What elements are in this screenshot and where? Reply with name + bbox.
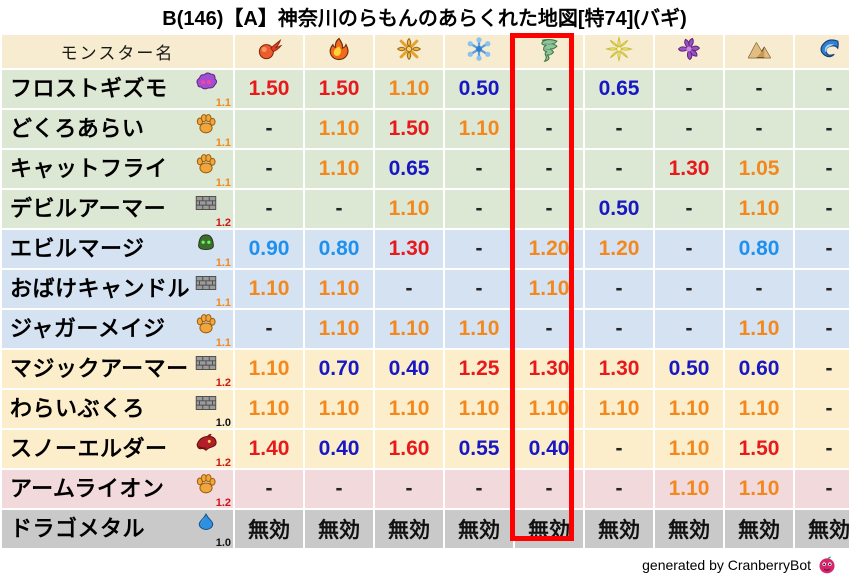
resistance-cell: - <box>795 150 849 188</box>
resistance-cell: - <box>655 270 723 308</box>
table-row: キャットフライ1.1-1.100.65---1.301.05- <box>2 150 849 188</box>
monster-name-label: わらいぶくろ <box>10 390 191 428</box>
monster-name-cell[interactable]: ドラゴメタル1.0 <box>2 510 233 548</box>
monster-badge: 1.1 <box>191 270 231 308</box>
header-wave-icon[interactable] <box>795 35 849 68</box>
resistance-cell: 1.10 <box>305 270 373 308</box>
resistance-cell: 1.10 <box>235 270 303 308</box>
resistance-cell: 1.50 <box>305 70 373 108</box>
resistance-cell: - <box>585 270 653 308</box>
monster-name-label: デビルアーマー <box>10 190 191 228</box>
resistance-cell: - <box>795 430 849 468</box>
header-mountain-icon[interactable] <box>725 35 793 68</box>
resistance-table-page: B(146)【A】神奈川のらもんのあらくれた地図[特74](バギ) モンスター名… <box>0 0 849 583</box>
purple-blob-icon <box>193 71 223 97</box>
resistance-cell: - <box>655 70 723 108</box>
page-title: B(146)【A】神奈川のらもんのあらくれた地図[特74](バギ) <box>0 2 849 31</box>
resistance-cell: 1.10 <box>375 310 443 348</box>
monster-version-label: 1.1 <box>216 138 231 149</box>
resistance-cell: 無効 <box>725 510 793 548</box>
resistance-cell: 0.80 <box>725 230 793 268</box>
resistance-cell: - <box>235 310 303 348</box>
resistance-cell: 0.50 <box>585 190 653 228</box>
resistance-cell: 1.10 <box>375 190 443 228</box>
table-row: スノーエルダー1.21.400.401.600.550.40-1.101.50- <box>2 430 849 468</box>
resistance-cell: - <box>515 70 583 108</box>
resistance-cell: 無効 <box>375 510 443 548</box>
monster-version-label: 1.0 <box>216 538 231 549</box>
resistance-cell: 0.90 <box>235 230 303 268</box>
monster-version-label: 1.2 <box>216 498 231 509</box>
resistance-cell: - <box>515 110 583 148</box>
resistance-cell: - <box>795 110 849 148</box>
monster-badge: 1.1 <box>191 110 231 148</box>
brick-icon <box>193 191 223 217</box>
resistance-cell: - <box>305 190 373 228</box>
resistance-cell: - <box>515 150 583 188</box>
monster-name-cell[interactable]: フロストギズモ1.1 <box>2 70 233 108</box>
header-monster-name: モンスター名 <box>2 35 233 68</box>
resistance-cell: 1.20 <box>515 230 583 268</box>
resistance-cell: - <box>795 310 849 348</box>
monster-version-label: 1.1 <box>216 298 231 309</box>
resistance-cell: 0.50 <box>655 350 723 388</box>
resistance-cell: 1.10 <box>235 390 303 428</box>
resistance-cell: 無効 <box>795 510 849 548</box>
monster-version-label: 1.2 <box>216 378 231 389</box>
resistance-cell: 0.40 <box>515 430 583 468</box>
table-row: アームライオン1.2------1.101.10- <box>2 470 849 508</box>
resistance-cell: - <box>515 190 583 228</box>
table-row: エビルマージ1.10.900.801.30-1.201.20-0.80- <box>2 230 849 268</box>
monster-badge: 1.2 <box>191 470 231 508</box>
resistance-cell: - <box>445 270 513 308</box>
resistance-cell: 1.30 <box>375 230 443 268</box>
resistance-cell: 0.50 <box>445 70 513 108</box>
resistance-cell: - <box>305 470 373 508</box>
table-row: どくろあらい1.1-1.101.501.10----- <box>2 110 849 148</box>
header-snowflake-icon[interactable] <box>445 35 513 68</box>
resistance-cell: - <box>725 270 793 308</box>
resistance-cell: 1.20 <box>585 230 653 268</box>
resistance-cell: 0.60 <box>725 350 793 388</box>
resistance-cell: 1.10 <box>305 150 373 188</box>
resistance-cell: 1.10 <box>655 430 723 468</box>
monster-badge: 1.1 <box>191 150 231 188</box>
header-explosion-icon[interactable] <box>375 35 443 68</box>
monster-name-label: ドラゴメタル <box>10 510 191 548</box>
resistance-cell: 1.10 <box>305 310 373 348</box>
resistance-cell: - <box>795 470 849 508</box>
monster-name-label: おばけキャンドル <box>10 270 191 308</box>
resistance-cell: 1.50 <box>375 110 443 148</box>
table-row: フロストギズモ1.11.501.501.100.50-0.65--- <box>2 70 849 108</box>
table-row: ジャガーメイジ1.1-1.101.101.10---1.10- <box>2 310 849 348</box>
header-purple-swirl-icon[interactable] <box>655 35 723 68</box>
table-row: マジックアーマー1.21.100.700.401.251.301.300.500… <box>2 350 849 388</box>
resistance-cell: - <box>585 470 653 508</box>
resistance-cell: - <box>655 190 723 228</box>
monster-version-label: 1.0 <box>216 418 231 429</box>
resistance-cell: 0.80 <box>305 230 373 268</box>
header-flame-icon[interactable] <box>305 35 373 68</box>
resistance-cell: 0.40 <box>305 430 373 468</box>
brick-icon <box>193 391 223 417</box>
resistance-cell: - <box>445 470 513 508</box>
resistance-cell: 1.10 <box>725 390 793 428</box>
footer-credit: generated by CranberryBot <box>642 555 837 575</box>
table-row: デビルアーマー1.2--1.10--0.50-1.10- <box>2 190 849 228</box>
monster-name-label: キャットフライ <box>10 150 191 188</box>
resistance-cell: - <box>655 310 723 348</box>
resistance-cell: 1.25 <box>445 350 513 388</box>
table-body: モンスター名フロストギズモ1.11.501.501.100.50-0.65---… <box>2 35 849 548</box>
monster-badge: 1.1 <box>191 70 231 108</box>
monster-name-label: スノーエルダー <box>10 430 191 468</box>
resistance-cell: - <box>795 350 849 388</box>
paw-icon <box>193 311 223 337</box>
resistance-cell: - <box>375 470 443 508</box>
resistance-cell: 1.30 <box>655 150 723 188</box>
brick-icon <box>193 351 223 377</box>
resistance-cell: - <box>585 430 653 468</box>
resistance-cell: - <box>795 230 849 268</box>
monster-name-cell[interactable]: エビルマージ1.1 <box>2 230 233 268</box>
resistance-cell: - <box>655 110 723 148</box>
table-header-row: モンスター名 <box>2 35 849 68</box>
resistance-cell: 無効 <box>515 510 583 548</box>
resistance-cell: 1.10 <box>445 390 513 428</box>
resistance-cell: 1.10 <box>305 390 373 428</box>
resistance-cell: 0.65 <box>585 70 653 108</box>
resistance-cell: 1.10 <box>585 390 653 428</box>
resistance-cell: 1.50 <box>235 70 303 108</box>
resistance-cell: 無効 <box>235 510 303 548</box>
resistance-cell: 1.60 <box>375 430 443 468</box>
resistance-cell: 0.65 <box>375 150 443 188</box>
monster-version-label: 1.2 <box>216 218 231 229</box>
resistance-cell: 無効 <box>585 510 653 548</box>
resistance-cell: - <box>655 230 723 268</box>
resistance-cell: 0.40 <box>375 350 443 388</box>
monster-name-label: ジャガーメイジ <box>10 310 191 348</box>
monster-badge: 1.1 <box>191 310 231 348</box>
resistance-cell: - <box>795 270 849 308</box>
resistance-cell: - <box>795 70 849 108</box>
resistance-cell: - <box>445 230 513 268</box>
monster-badge: 1.1 <box>191 230 231 268</box>
resistance-cell: 無効 <box>655 510 723 548</box>
monster-version-label: 1.1 <box>216 338 231 349</box>
header-tornado-icon[interactable] <box>515 35 583 68</box>
resistance-cell: - <box>445 190 513 228</box>
resistance-cell: - <box>445 150 513 188</box>
monster-version-label: 1.1 <box>216 98 231 109</box>
resistance-cell: 無効 <box>305 510 373 548</box>
monster-name-cell[interactable]: アームライオン1.2 <box>2 470 233 508</box>
monster-version-label: 1.1 <box>216 178 231 189</box>
resistance-cell: 1.10 <box>725 190 793 228</box>
monster-name-cell[interactable]: スノーエルダー1.2 <box>2 430 233 468</box>
resistance-cell: 1.10 <box>235 350 303 388</box>
resistance-cell: 1.10 <box>445 310 513 348</box>
monster-badge: 1.0 <box>191 390 231 428</box>
resistance-cell: 0.70 <box>305 350 373 388</box>
resistance-cell: - <box>725 110 793 148</box>
monster-resistance-table: モンスター名フロストギズモ1.11.501.501.100.50-0.65---… <box>0 33 849 550</box>
monster-name-cell[interactable]: デビルアーマー1.2 <box>2 190 233 228</box>
header-fireball-icon[interactable] <box>235 35 303 68</box>
resistance-cell: 1.10 <box>725 310 793 348</box>
monster-name-label: どくろあらい <box>10 110 191 148</box>
resistance-cell: - <box>375 270 443 308</box>
monster-name-label: フロストギズモ <box>10 70 191 108</box>
paw-icon <box>193 471 223 497</box>
resistance-cell: 1.30 <box>585 350 653 388</box>
resistance-cell: - <box>515 310 583 348</box>
monster-name-cell[interactable]: ジャガーメイジ1.1 <box>2 310 233 348</box>
paw-icon <box>193 151 223 177</box>
resistance-cell: 1.30 <box>515 350 583 388</box>
resistance-cell: 1.10 <box>375 390 443 428</box>
paw-icon <box>193 111 223 137</box>
resistance-cell: - <box>515 470 583 508</box>
resistance-cell: - <box>235 110 303 148</box>
resistance-cell: - <box>585 310 653 348</box>
resistance-cell: - <box>795 390 849 428</box>
footer-text: generated by CranberryBot <box>642 557 811 573</box>
brick-icon <box>193 271 223 297</box>
monster-name-cell[interactable]: マジックアーマー1.2 <box>2 350 233 388</box>
resistance-cell: 1.10 <box>515 270 583 308</box>
monster-name-label: アームライオン <box>10 470 191 508</box>
green-slime-icon <box>193 231 223 257</box>
resistance-cell: - <box>235 190 303 228</box>
monster-name-label: エビルマージ <box>10 230 191 268</box>
resistance-cell: - <box>585 150 653 188</box>
monster-badge: 1.2 <box>191 430 231 468</box>
resistance-cell: 1.40 <box>235 430 303 468</box>
monster-version-label: 1.1 <box>216 258 231 269</box>
monster-version-label: 1.2 <box>216 458 231 469</box>
resistance-cell: - <box>235 150 303 188</box>
cranberry-icon <box>817 555 837 575</box>
table-row: わらいぶくろ1.01.101.101.101.101.101.101.101.1… <box>2 390 849 428</box>
resistance-cell: 1.10 <box>305 110 373 148</box>
resistance-cell: 1.10 <box>655 470 723 508</box>
resistance-cell: 1.50 <box>725 430 793 468</box>
resistance-cell: 無効 <box>445 510 513 548</box>
header-star-light-icon[interactable] <box>585 35 653 68</box>
monster-name-cell[interactable]: わらいぶくろ1.0 <box>2 390 233 428</box>
monster-badge: 1.2 <box>191 190 231 228</box>
resistance-cell: - <box>235 470 303 508</box>
resistance-cell: - <box>585 110 653 148</box>
resistance-cell: 1.10 <box>375 70 443 108</box>
table-row: おばけキャンドル1.11.101.10--1.10---- <box>2 270 849 308</box>
monster-name-cell[interactable]: キャットフライ1.1 <box>2 150 233 188</box>
blue-slime-icon <box>193 511 223 537</box>
resistance-cell: 0.55 <box>445 430 513 468</box>
monster-name-cell[interactable]: おばけキャンドル1.1 <box>2 270 233 308</box>
resistance-cell: 1.10 <box>655 390 723 428</box>
resistance-cell: - <box>795 190 849 228</box>
monster-name-cell[interactable]: どくろあらい1.1 <box>2 110 233 148</box>
table-row: ドラゴメタル1.0無効無効無効無効無効無効無効無効無効 <box>2 510 849 548</box>
resistance-cell: 1.10 <box>725 470 793 508</box>
resistance-cell: 1.05 <box>725 150 793 188</box>
resistance-cell: 1.10 <box>515 390 583 428</box>
monster-badge: 1.0 <box>191 510 231 548</box>
resistance-cell: 1.10 <box>445 110 513 148</box>
monster-badge: 1.2 <box>191 350 231 388</box>
monster-name-label: マジックアーマー <box>10 350 191 388</box>
red-dragon-icon <box>193 431 223 457</box>
resistance-cell: - <box>725 70 793 108</box>
